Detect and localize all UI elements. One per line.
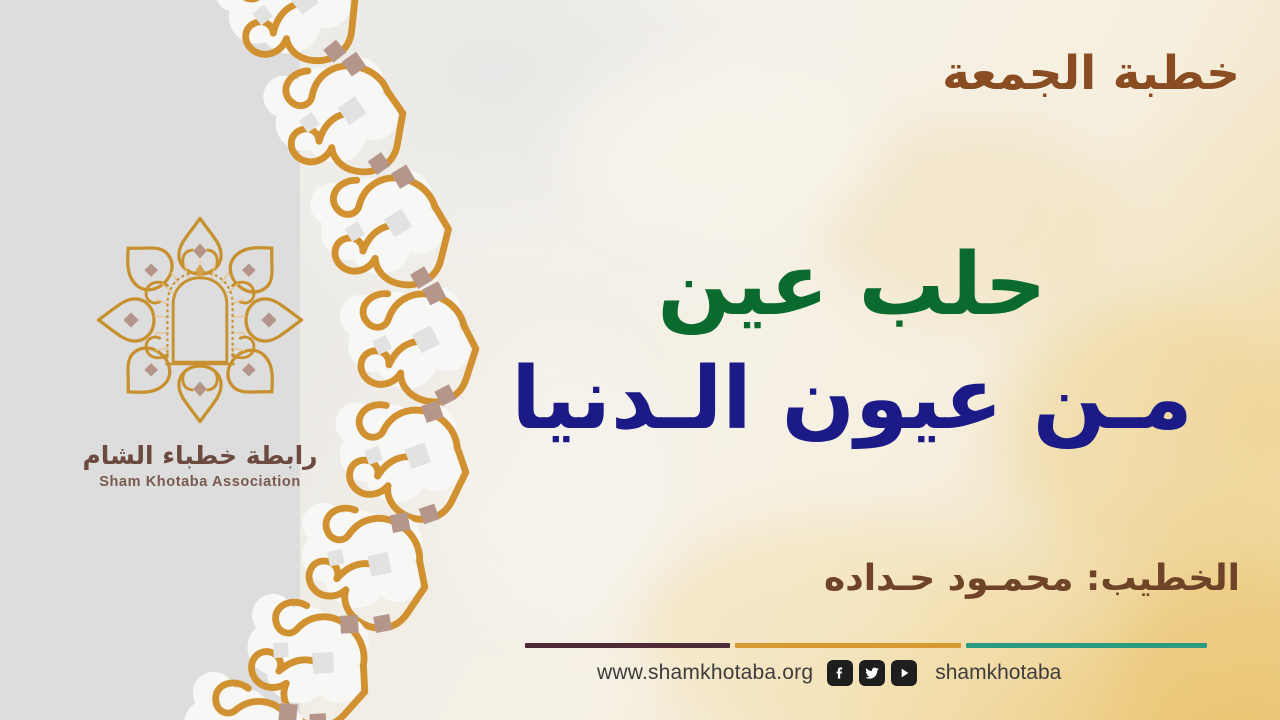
twitter-icon[interactable] [859,660,885,686]
social-links [827,660,917,686]
khutbah-slide: رابطة خطباء الشام Sham Khotaba Associati… [0,0,1280,720]
divider-segment-maroon [525,643,730,648]
divider-segment-gold [735,643,961,648]
footer-divider [525,643,1207,648]
website-url[interactable]: www.shamkhotaba.org [597,661,813,685]
logo-name-arabic: رابطة خطباء الشام [60,441,340,470]
title-line-2: مـن عيون الـدنيا [482,344,1222,454]
facebook-icon[interactable] [827,660,853,686]
slide-title: حلب عين مـن عيون الـدنيا [482,230,1222,454]
slide-kicker: خطبة الجمعة [942,48,1240,100]
social-handle[interactable]: shamkhotaba [935,661,1061,685]
divider-segment-teal [966,643,1207,648]
mosque-rosette-icon [85,205,315,435]
title-line-1: حلب عين [482,230,1222,340]
logo-name-english: Sham Khotaba Association [60,474,340,490]
youtube-icon[interactable] [891,660,917,686]
speaker-name: الخطيب: محمـود حـداده [824,558,1240,599]
logo-block: رابطة خطباء الشام Sham Khotaba Associati… [60,205,340,490]
footer-row: www.shamkhotaba.org shamkhotaba [525,655,1215,691]
